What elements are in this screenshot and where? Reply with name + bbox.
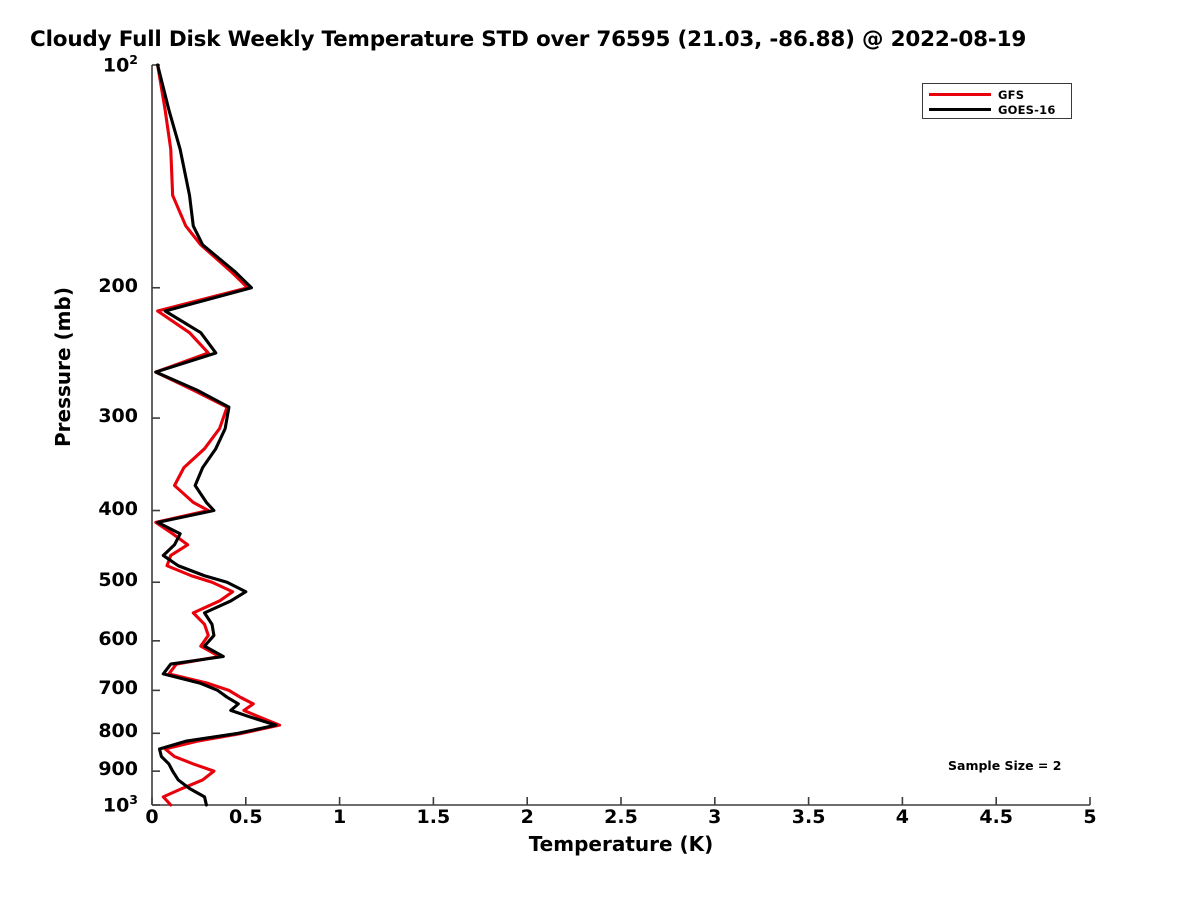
y-tick-label: 900 (0, 758, 138, 780)
figure-canvas: Cloudy Full Disk Weekly Temperature STD … (0, 0, 1200, 900)
legend-label-goes16: GOES-16 (998, 103, 1056, 117)
y-tick-label: 600 (0, 628, 138, 650)
y-tick-label: 500 (0, 569, 138, 591)
y-tick-label: 700 (0, 677, 138, 699)
y-tick-label: 102 (0, 52, 138, 76)
x-tick-label: 2 (497, 806, 557, 828)
legend: GFS GOES-16 (922, 83, 1072, 119)
x-tick-label: 0.5 (216, 806, 276, 828)
x-tick-label: 3.5 (779, 806, 839, 828)
x-tick-label: 4.5 (966, 806, 1026, 828)
x-tick-label: 4 (872, 806, 932, 828)
legend-item-goes16: GOES-16 (929, 102, 1056, 117)
legend-item-gfs: GFS (929, 87, 1024, 102)
legend-label-gfs: GFS (998, 88, 1024, 102)
legend-swatch-gfs (929, 93, 991, 96)
legend-swatch-goes16 (929, 108, 991, 111)
sample-size-annotation: Sample Size = 2 (948, 758, 1061, 773)
y-tick-label: 400 (0, 498, 138, 520)
x-tick-label: 3 (685, 806, 745, 828)
y-tick-label: 103 (0, 792, 138, 816)
y-tick-label: 800 (0, 720, 138, 742)
x-tick-label: 5 (1060, 806, 1120, 828)
y-tick-label: 200 (0, 275, 138, 297)
x-tick-label: 2.5 (591, 806, 651, 828)
y-tick-label: 300 (0, 405, 138, 427)
x-tick-label: 1 (310, 806, 370, 828)
x-tick-label: 1.5 (403, 806, 463, 828)
